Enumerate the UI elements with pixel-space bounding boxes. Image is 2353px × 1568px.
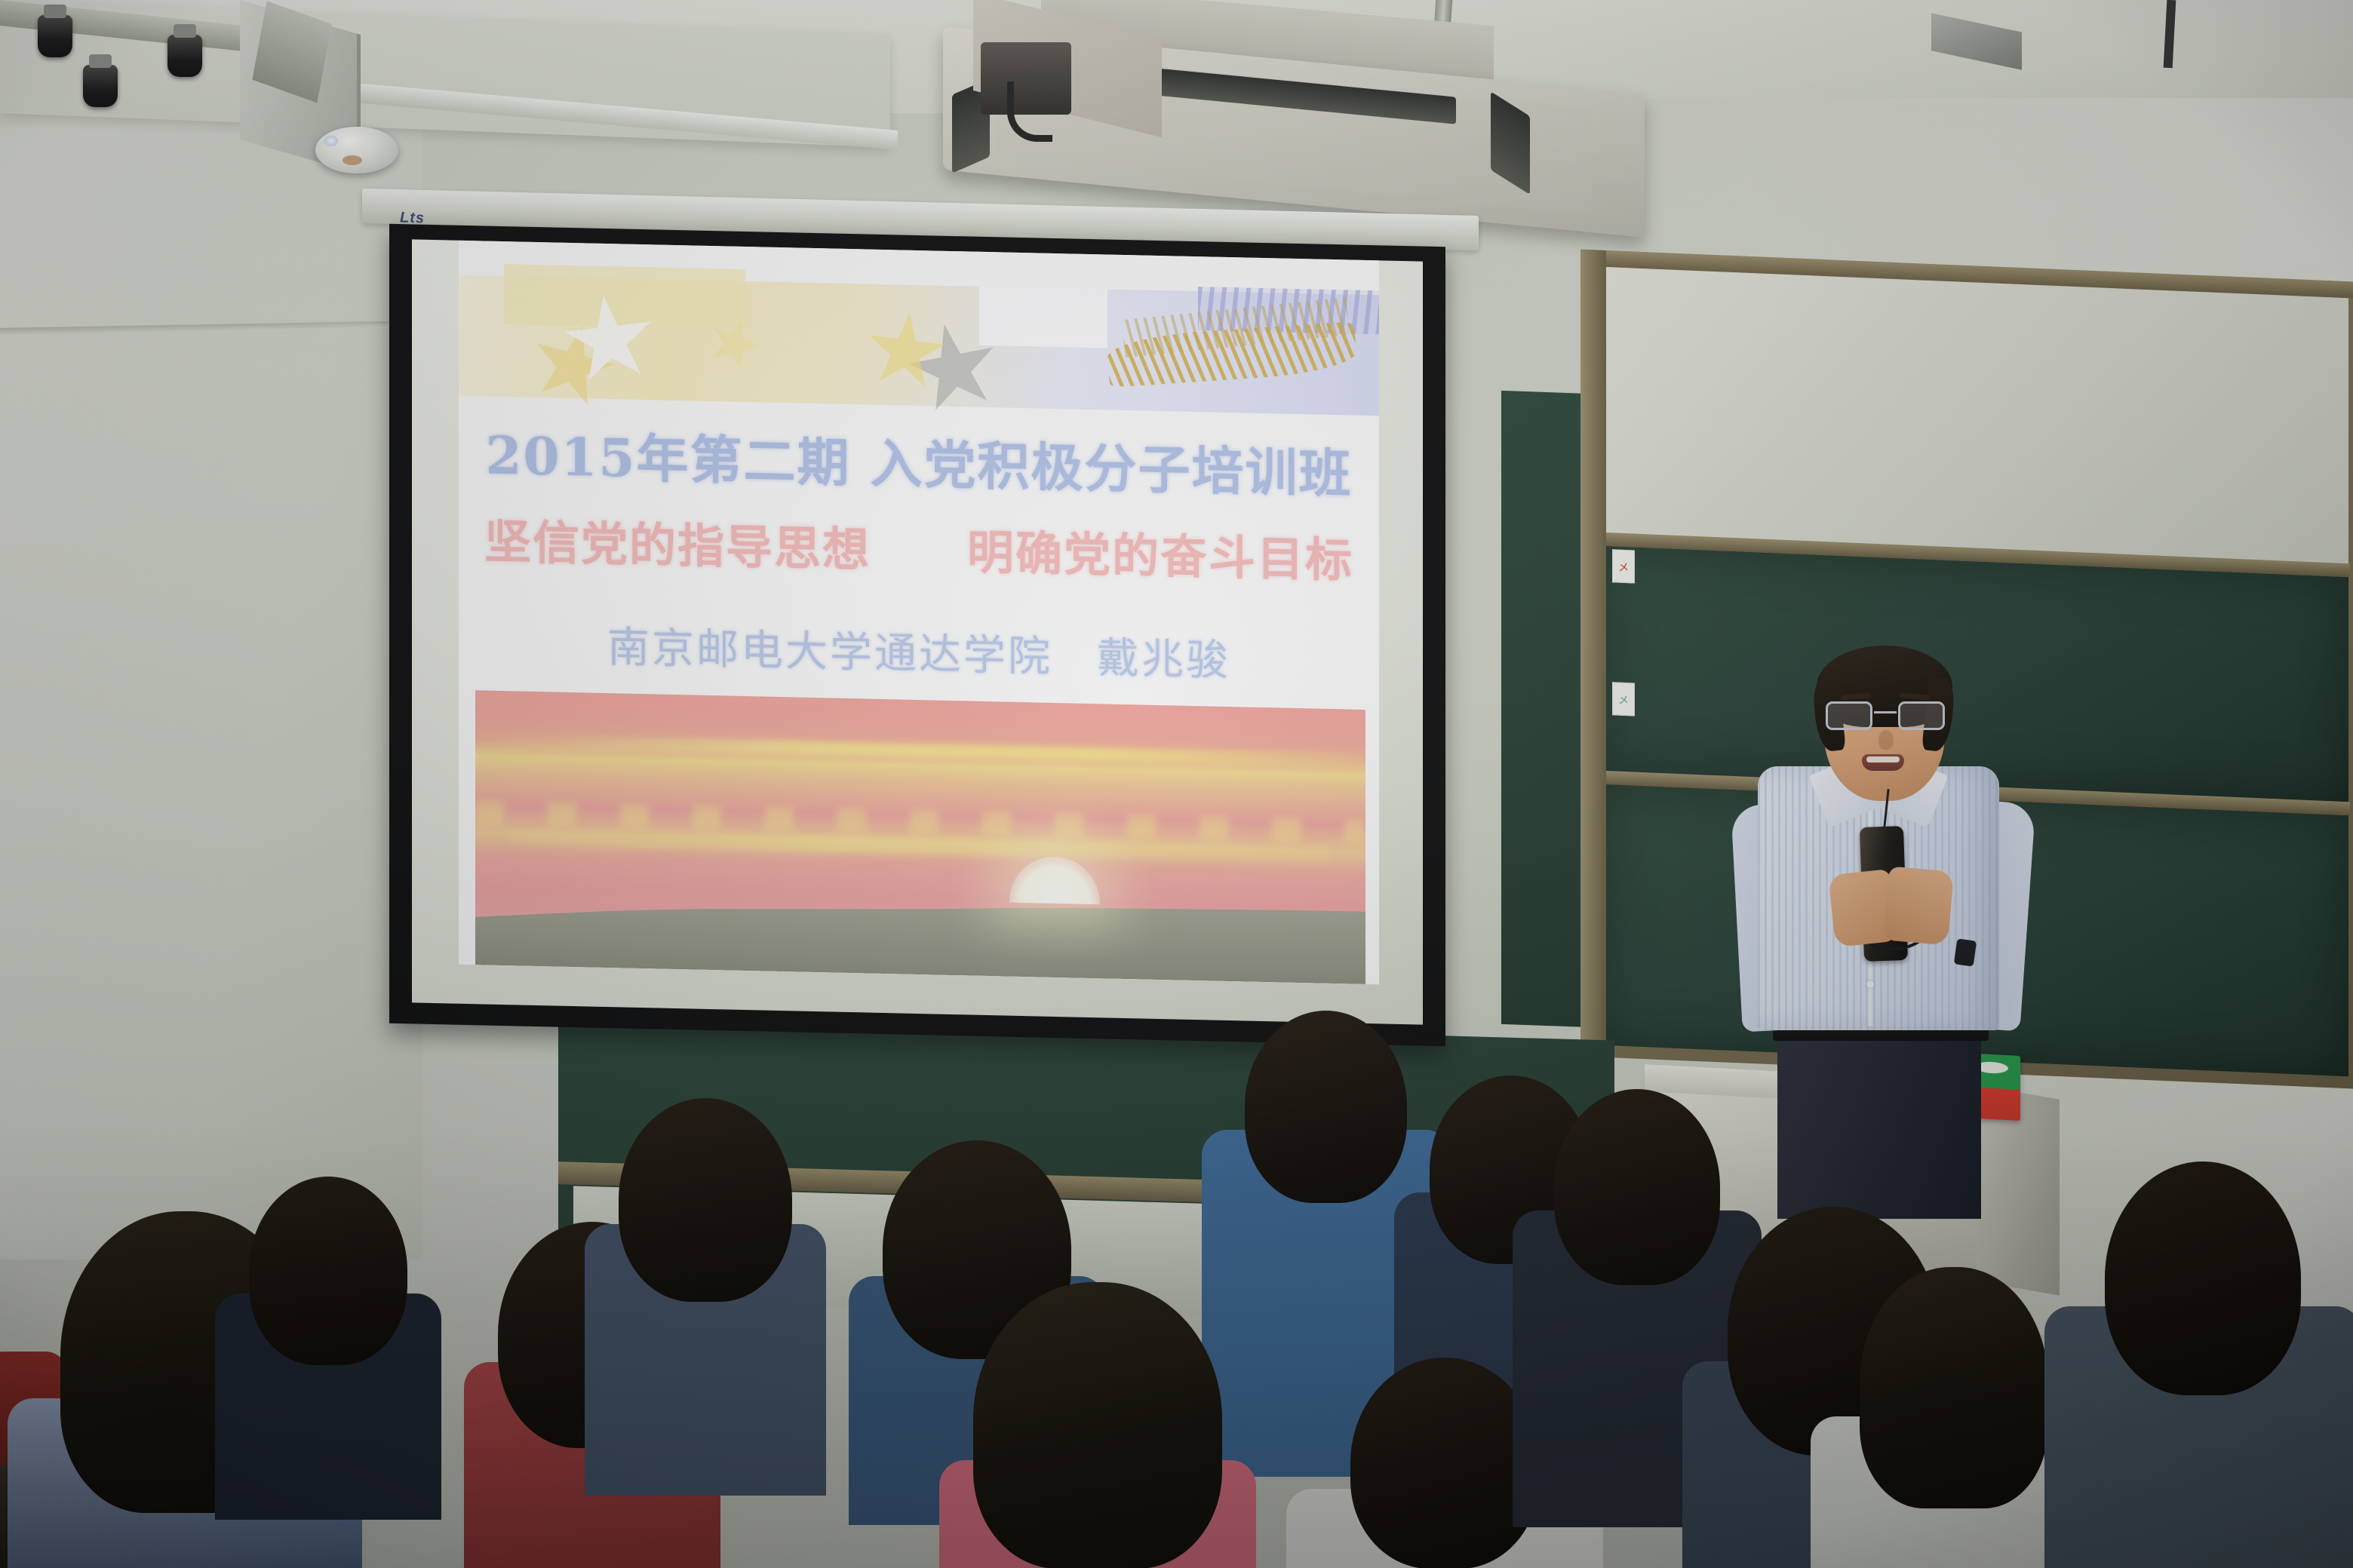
audience-head [1245, 1011, 1407, 1203]
band-white-block [979, 287, 1107, 348]
speaker-mouth [1862, 754, 1904, 771]
detector-led-icon [324, 136, 338, 146]
audience-head [619, 1098, 792, 1302]
sun-icon [1009, 855, 1100, 904]
star-icon [862, 307, 949, 395]
spotlight-icon [167, 35, 202, 77]
shirt-button [1866, 980, 1874, 988]
blackboard-sticker-red: メ [1612, 549, 1635, 583]
slide-decor-band [459, 275, 1379, 416]
eyeglasses-icon [1824, 701, 1946, 732]
blackboard-left-post [1580, 250, 1606, 1057]
slide-title: 2015年第二期 入党积极分子培训班 [459, 413, 1379, 508]
audience-head [973, 1282, 1222, 1568]
spotlight-icon [38, 15, 72, 57]
left-wall [0, 128, 422, 1260]
slide-byline: 南京邮电大学通达学院 戴兆骏 [459, 610, 1379, 692]
band-yellow-block [504, 264, 745, 330]
screen-surface: 2015年第二期 入党积极分子培训班 坚信党的指导思想 明确党的奋斗目标 南京邮… [412, 239, 1423, 1024]
spotlight-icon [83, 65, 118, 107]
audience-head [1350, 1358, 1539, 1568]
lens [1826, 701, 1872, 730]
presentation-slide: 2015年第二期 入党积极分子培训班 坚信党的指导思想 明确党的奋斗目标 南京邮… [459, 241, 1379, 985]
audience-head [1554, 1089, 1720, 1285]
classroom-scene: メ メ Lts 2015年第二期 [0, 0, 2353, 1568]
blackboard-upper-white-panel [1602, 262, 2348, 565]
projection-screen: 2015年第二期 入党积极分子培训班 坚信党的指导思想 明确党的奋斗目标 南京邮… [389, 224, 1445, 1047]
audience-head [2105, 1161, 2301, 1395]
blackboard-sticker-teal: メ [1612, 682, 1635, 716]
speaker-nose [1878, 730, 1894, 750]
lens [1898, 701, 1945, 730]
bridge [1874, 711, 1897, 713]
cloud-band [475, 734, 1365, 767]
audience-head [1860, 1267, 2048, 1508]
blackboard-far-panel [1501, 391, 1592, 1027]
audience-head [249, 1177, 407, 1365]
smoke-detector-icon [315, 127, 398, 173]
speaker-trousers [1777, 1030, 1981, 1219]
wristwatch-icon [1954, 938, 1977, 966]
speaker-right-hand [1883, 866, 1954, 945]
mountain-silhouette [475, 882, 1365, 984]
blackboard-panel [1602, 546, 2348, 803]
slide-sunset-photo [475, 690, 1365, 984]
slide-subtitle: 坚信党的指导思想 明确党的奋斗目标 [459, 503, 1379, 591]
